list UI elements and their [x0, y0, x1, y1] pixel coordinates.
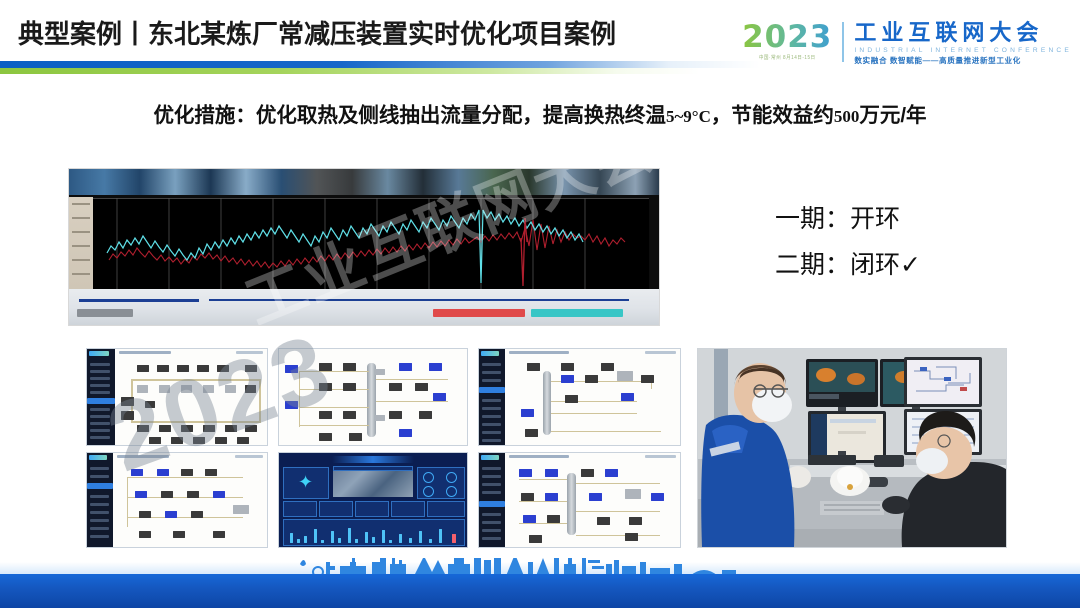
distillation-column — [543, 371, 551, 435]
dashboard-tabs — [333, 466, 413, 471]
thumb-canvas — [113, 453, 267, 547]
thumb-flowsheet-2[interactable] — [278, 348, 468, 446]
trend-series-optimized — [107, 210, 583, 283]
thumb-canvas — [505, 349, 680, 445]
logo-conference-name-en: INDUSTRIAL INTERNET CONFERENCE — [854, 46, 1072, 55]
note-phase-2: 二期：闭环✓ — [775, 242, 921, 288]
divider-blue-bar — [0, 61, 760, 68]
logo-year: 2023 — [742, 20, 832, 54]
conference-logo: 2023 中国·常州 8月14日-15日 工业互联网大会 INDUSTRIAL … — [742, 20, 1072, 78]
thumb-flowsheet-3[interactable] — [478, 348, 681, 446]
thumb-dashboard[interactable]: ✦ — [278, 452, 468, 548]
legend-chip-cyan — [531, 309, 623, 317]
trend-spike-marker-red — [521, 218, 527, 286]
dashboard-title-bar — [332, 456, 415, 463]
heading-prefix: 优化措施：优化取热及侧线抽出流量分配，提高换热终温 — [153, 104, 666, 127]
heading-saving-value: 500 — [834, 107, 860, 126]
thumb-flowsheet-1[interactable] — [86, 348, 268, 446]
heading-temperature-value: 5~9°C — [666, 107, 711, 126]
logo-conference-name-cn: 工业互联网大会 — [854, 20, 1072, 46]
thumb-canvas — [505, 453, 680, 547]
thumb-flowsheet-5[interactable] — [478, 452, 681, 548]
monitor-wall-strip — [69, 169, 659, 195]
slide-footer — [0, 558, 1080, 608]
dashboard-gauges-panel — [417, 467, 465, 499]
toolbar-line-1 — [79, 299, 199, 302]
heading-middle: ，节能效益约 — [711, 104, 834, 127]
divider-green-bar — [0, 68, 700, 74]
thumb-sidebar — [479, 349, 505, 445]
toolbar-line-2 — [209, 299, 629, 301]
footer-band — [0, 574, 1080, 608]
logo-text-block: 工业互联网大会 INDUSTRIAL INTERNET CONFERENCE 数… — [844, 20, 1072, 66]
dashboard-spark-2 — [319, 501, 353, 517]
dashboard-radar-panel: ✦ — [283, 467, 329, 499]
dashboard-spark-1 — [283, 501, 317, 517]
thumb-canvas — [279, 349, 467, 445]
page-title: 典型案例丨东北某炼厂常减压装置实时优化项目案例 — [18, 14, 616, 51]
dashboard-bar-panel — [283, 519, 465, 546]
screenshot-grid: ✦ — [86, 348, 681, 548]
dashboard-photo — [333, 471, 413, 497]
trend-plot-svg — [93, 198, 649, 289]
trend-y-axis — [69, 197, 93, 289]
phase-notes: 一期：开环 二期：闭环✓ — [775, 196, 921, 288]
thumb-sidebar — [479, 453, 505, 547]
control-room-photo — [697, 348, 1007, 548]
dashboard-spark-5 — [427, 501, 465, 517]
content-heading: 优化措施：优化取热及侧线抽出流量分配，提高换热终温5~9°C，节能效益约500万… — [0, 98, 1080, 128]
trend-chart-screenshot: 工业互联网大会 — [68, 168, 660, 326]
logo-conference-slogan: 数实融合 数智赋能——高质量推进新型工业化 — [854, 55, 1072, 66]
logo-year-subtitle: 中国·常州 8月14日-15日 — [742, 54, 832, 62]
trend-plot-area — [93, 198, 649, 289]
slide-header: 典型案例丨东北某炼厂常减压装置实时优化项目案例 2023 中国·常州 8月14日… — [0, 0, 1080, 88]
legend-chip-grey — [77, 309, 133, 317]
note-phase-1: 一期：开环 — [775, 196, 921, 242]
legend-chip-red — [433, 309, 525, 317]
heading-suffix: 万元/年 — [859, 104, 926, 127]
thumb-canvas — [115, 349, 267, 445]
distillation-column — [567, 473, 576, 535]
dashboard-spark-3 — [355, 501, 389, 517]
thumb-sidebar — [87, 349, 115, 445]
thumb-sidebar — [87, 453, 113, 547]
dashboard-spark-4 — [391, 501, 425, 517]
logo-year-block: 2023 中国·常州 8月14日-15日 — [742, 20, 842, 61]
thumb-flowsheet-4[interactable] — [86, 452, 268, 548]
trend-footer-toolbar — [69, 289, 659, 325]
control-room-photo-svg — [698, 349, 1006, 547]
trend-gridlines — [93, 198, 649, 289]
